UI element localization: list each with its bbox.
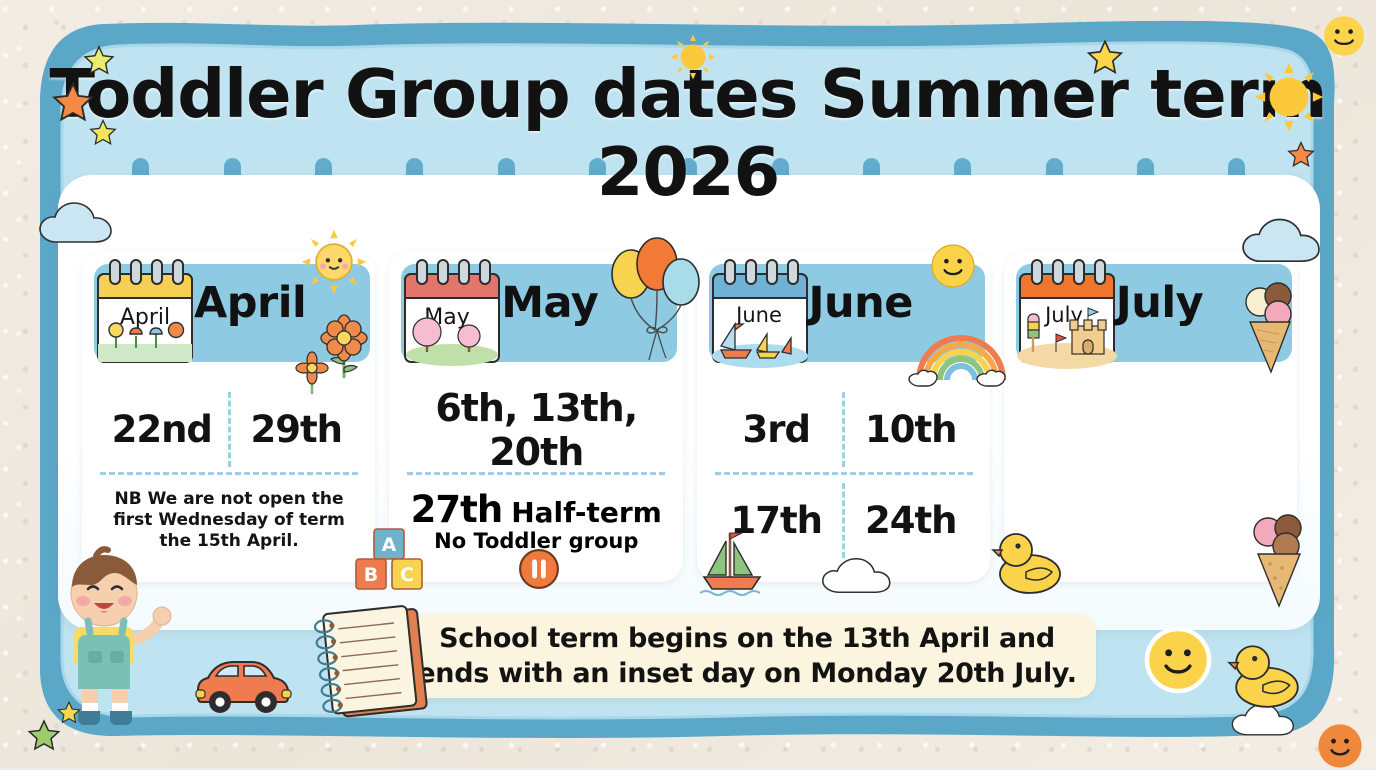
notepad-icon: [312, 603, 442, 721]
halfterm-sublabel: No Toddler group: [403, 529, 669, 553]
month-cards-row: April April: [82, 252, 1297, 582]
date-value: 29th: [231, 408, 363, 451]
mini-calendar-icon: June: [705, 256, 815, 378]
date-value: 27th: [411, 488, 503, 531]
month-name-july: July: [1116, 278, 1276, 328]
date-value: 24th: [845, 499, 977, 542]
date-row: 22nd 29th: [96, 384, 362, 475]
month-name-april: April: [194, 278, 354, 328]
date-value: 3rd: [711, 408, 843, 451]
month-card-may[interactable]: May May 6th, 13th, 20th: [389, 252, 682, 582]
date-value: 10th: [845, 408, 977, 451]
dates-area-april: 22nd 29th NB We are not open the first W…: [96, 384, 362, 566]
mini-calendar-icon: July: [1012, 256, 1122, 378]
term-info-text: School term begins on the 13th April and…: [398, 621, 1096, 691]
month-card-july[interactable]: July July: [1004, 252, 1297, 582]
halfterm-row: 27th Half-term No Toddler group: [403, 475, 669, 566]
mini-calendar-icon: April: [90, 256, 200, 378]
dates-area-may: 6th, 13th, 20th 27th Half-term No Toddle…: [403, 384, 669, 566]
month-card-april[interactable]: April April: [82, 252, 375, 582]
date-row: 17th 24th: [711, 475, 977, 566]
note-row: NB We are not open the first Wednesday o…: [96, 475, 362, 566]
date-value: 6th, 13th, 20th: [403, 386, 669, 474]
april-note: NB We are not open the first Wednesday o…: [96, 489, 362, 551]
date-value: 22nd: [96, 408, 228, 451]
page-title: Toddler Group dates Summer term 2026: [0, 55, 1376, 211]
month-name-may: May: [501, 278, 661, 328]
svg-text:April: April: [120, 305, 170, 330]
date-row: 3rd 10th: [711, 384, 977, 475]
halfterm-label: Half-term: [511, 496, 662, 529]
month-name-june: June: [809, 278, 969, 328]
mini-calendar-icon: May: [397, 256, 507, 378]
date-value: 17th: [711, 499, 843, 542]
term-info-banner: School term begins on the 13th April and…: [398, 614, 1096, 698]
date-row: 6th, 13th, 20th: [403, 384, 669, 475]
month-card-june[interactable]: June June: [697, 252, 990, 582]
dates-area-june: 3rd 10th 17th 24th: [711, 384, 977, 566]
